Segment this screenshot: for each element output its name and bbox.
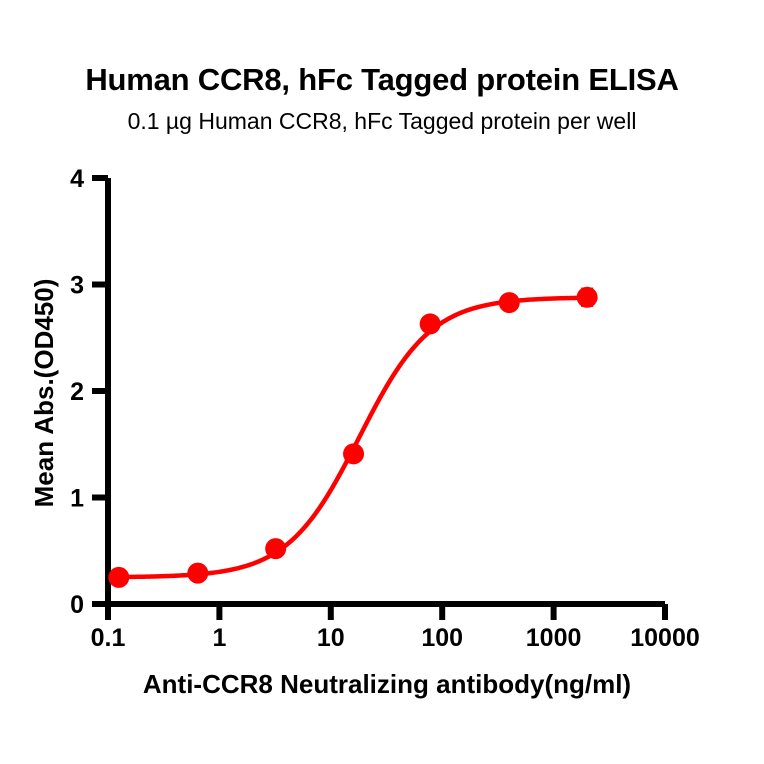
fitted-curve <box>119 298 587 577</box>
data-point <box>499 292 520 313</box>
x-axis-ticks: 0.1 1 10 100 1000 10000 <box>91 604 700 652</box>
data-point <box>265 538 286 559</box>
data-points <box>108 287 597 588</box>
data-point <box>343 443 364 464</box>
data-point <box>187 563 208 584</box>
x-tick-label-0.1: 0.1 <box>91 624 126 652</box>
x-axis-title: Anti-CCR8 Neutralizing antibody(ng/ml) <box>143 669 631 699</box>
x-tick-label-1000: 1000 <box>526 624 582 652</box>
y-tick-label-2: 2 <box>70 378 84 406</box>
data-point <box>420 313 441 334</box>
plot-area: Mean Abs.(OD450) Anti-CCR8 Neutralizing … <box>0 0 764 764</box>
y-axis-ticks: 0 1 2 3 4 <box>70 165 108 619</box>
elisa-chart-figure: Human CCR8, hFc Tagged protein ELISA 0.1… <box>0 0 764 764</box>
y-tick-label-3: 3 <box>70 272 84 300</box>
x-tick-label-100: 100 <box>421 624 463 652</box>
y-tick-label-4: 4 <box>70 165 84 193</box>
x-tick-label-10: 10 <box>317 624 345 652</box>
y-tick-label-1: 1 <box>70 485 84 513</box>
data-point <box>108 567 129 588</box>
error-bars <box>113 290 593 580</box>
y-axis-title: Mean Abs.(OD450) <box>29 279 59 508</box>
x-tick-label-10000: 10000 <box>630 624 700 652</box>
y-tick-label-0: 0 <box>70 591 84 619</box>
data-point <box>577 287 598 308</box>
x-tick-label-1: 1 <box>212 624 226 652</box>
